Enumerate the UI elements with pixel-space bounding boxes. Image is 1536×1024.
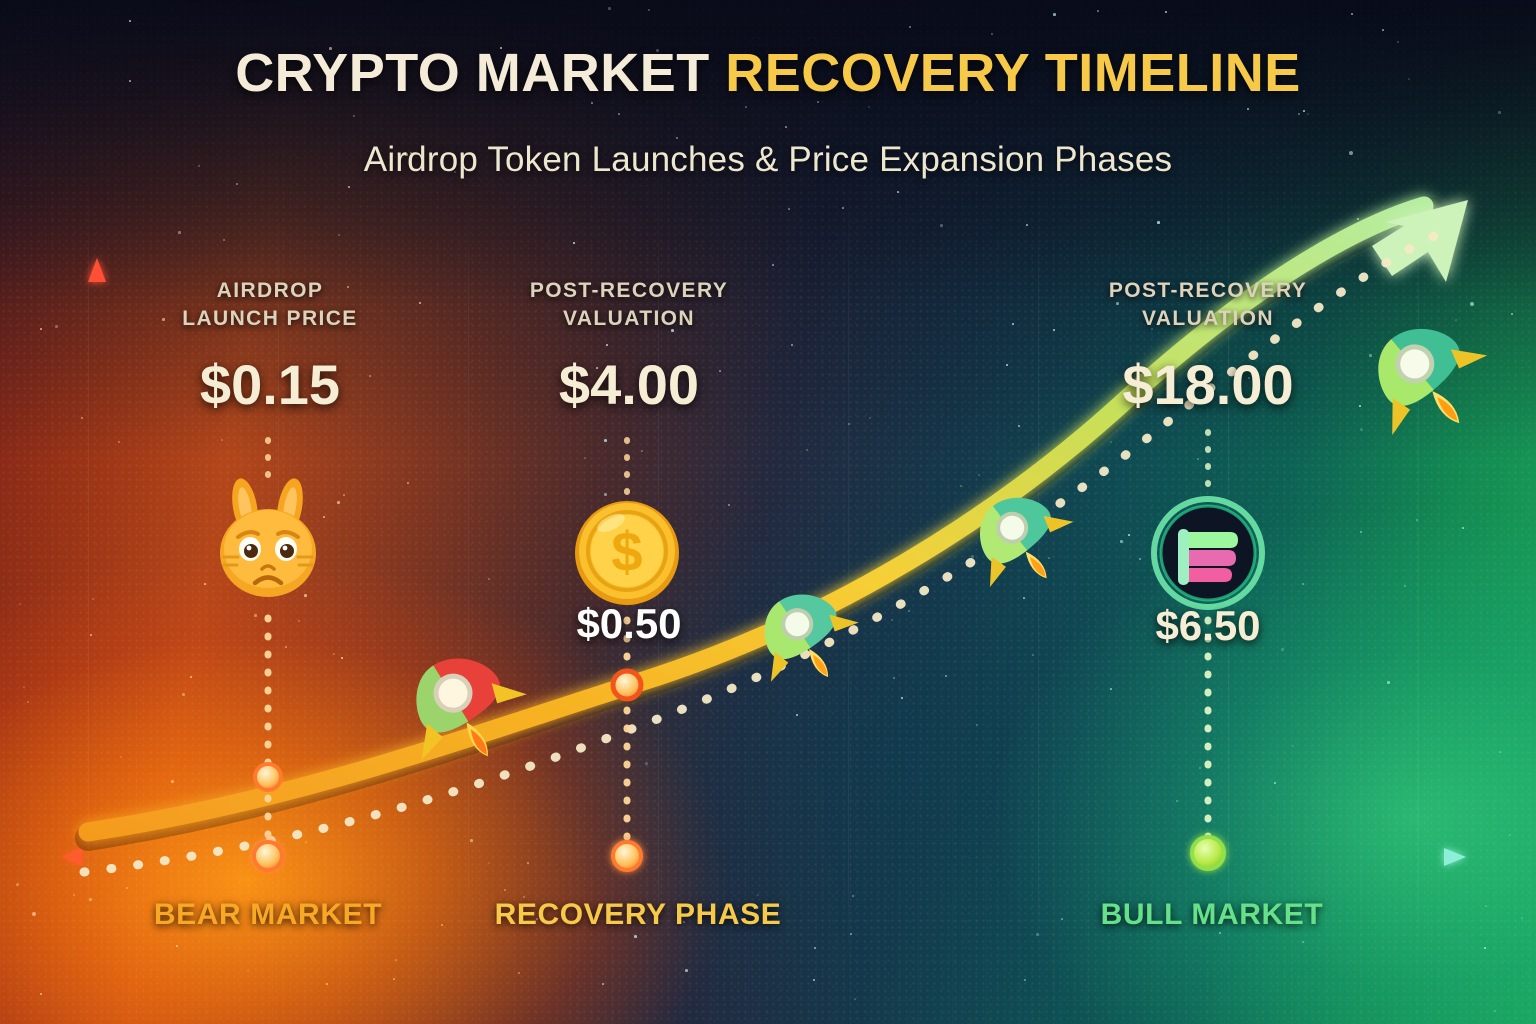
rocket-icon-4 xyxy=(1345,299,1509,461)
infographic-canvas: CRYPTO MARKET RECOVERY TIMELINE Airdrop … xyxy=(0,0,1536,1024)
curve-marker-recovery[interactable] xyxy=(613,671,641,699)
y-axis xyxy=(88,258,106,858)
annotation-kicker-recovery-line1: POST-RECOVERY xyxy=(487,277,771,305)
annotation-kicker-bull: POST-RECOVERY VALUATION xyxy=(1066,277,1350,334)
annotation-kicker-recovery-line2: VALUATION xyxy=(487,305,771,333)
annotation-kicker-bear-line2: LAUNCH PRICE xyxy=(128,305,412,333)
svg-text:$: $ xyxy=(611,520,642,583)
annotation-kicker-bull-line2: VALUATION xyxy=(1066,305,1350,333)
annotation-kicker-bull-line1: POST-RECOVERY xyxy=(1066,277,1350,305)
annotation-midprice-recovery: $0.50 xyxy=(487,600,771,648)
annotation-price-bear: $0.15 xyxy=(128,352,412,417)
axis-marker-recovery[interactable] xyxy=(613,842,641,870)
annotation-price-bull: $18.00 xyxy=(1066,352,1350,417)
annotation-midprice-bull: $6.50 xyxy=(1066,602,1350,650)
solana-token-icon xyxy=(1154,499,1262,607)
phase-label-bull-market: BULL MARKET xyxy=(1062,898,1362,932)
phase-label-recovery-phase: RECOVERY PHASE xyxy=(488,898,788,932)
phase-label-bear-market: BEAR MARKET xyxy=(118,898,418,932)
curve-marker-bear[interactable] xyxy=(255,764,281,790)
axis-marker-bear[interactable] xyxy=(254,842,282,870)
annotation-price-recovery: $4.00 xyxy=(487,352,771,417)
axis-marker-bull[interactable] xyxy=(1192,837,1224,869)
sad-rabbit-face-icon xyxy=(220,476,316,597)
gold-dollar-coin-icon: $ xyxy=(575,501,679,605)
annotation-kicker-bear-line1: AIRDROP xyxy=(128,277,412,305)
recovery-chart: $ xyxy=(0,0,1536,1024)
annotation-kicker-recovery: POST-RECOVERY VALUATION xyxy=(487,277,771,334)
annotation-kicker-bear: AIRDROP LAUNCH PRICE xyxy=(128,277,412,334)
